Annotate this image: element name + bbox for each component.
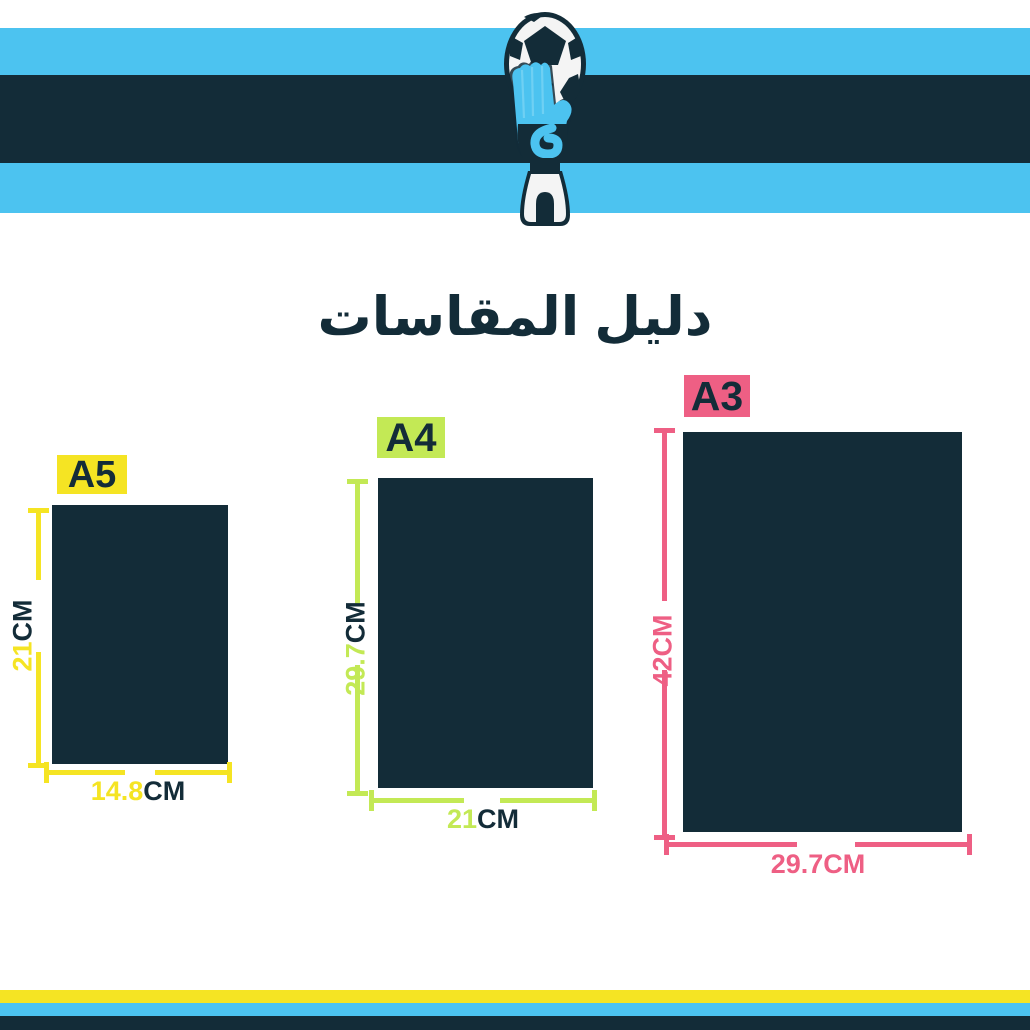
dim-label-a4-height: 29.7CM bbox=[343, 589, 370, 709]
dim-unit-a5-width: CM bbox=[143, 776, 185, 806]
dim-line-a5-width-right bbox=[155, 770, 232, 775]
page-title: دليل المقاسات bbox=[0, 288, 1030, 347]
size-badge-a4: A4 bbox=[377, 417, 445, 458]
dim-unit-a3-width: CM bbox=[823, 849, 865, 879]
paper-rect-a4 bbox=[378, 478, 593, 788]
footer-cyan-stripe bbox=[0, 1003, 1030, 1016]
dim-cap-a5-height-top bbox=[28, 508, 49, 513]
dim-line-a3-height-upper bbox=[662, 428, 667, 601]
dim-cap-a4-width-left bbox=[369, 790, 374, 811]
dim-line-a3-width-right bbox=[855, 842, 972, 847]
size-guide-poster: دليل المقاسات A5 21CM 14.8CM A4 29.7CM bbox=[0, 0, 1030, 1030]
size-badge-a5: A5 bbox=[57, 455, 127, 494]
dim-label-a3-width: 29.7CM bbox=[718, 851, 918, 878]
paper-rect-a5 bbox=[52, 505, 228, 764]
dim-label-a3-height: 42CM bbox=[650, 601, 677, 701]
dim-cap-a3-height-top bbox=[654, 428, 675, 433]
dim-line-a4-width-right bbox=[500, 798, 597, 803]
dim-label-a5-width: 14.8CM bbox=[38, 778, 238, 805]
dim-line-a5-height-upper bbox=[36, 508, 41, 580]
footer-navy-stripe bbox=[0, 1016, 1030, 1030]
dim-value-a3-height: 42 bbox=[648, 656, 678, 686]
dim-value-a4-width: 21 bbox=[447, 804, 477, 834]
dim-value-a4-height: 29.7 bbox=[341, 643, 371, 696]
dim-label-a4-width: 21CM bbox=[383, 806, 583, 833]
size-badge-a3: A3 bbox=[684, 375, 750, 417]
dim-cap-a3-width-right bbox=[967, 834, 972, 855]
dim-line-a5-width-left bbox=[44, 770, 125, 775]
goalkeeper-glove-trophy-logo-icon bbox=[490, 8, 600, 230]
dim-value-a5-width: 14.8 bbox=[91, 776, 144, 806]
dim-value-a5-height: 21 bbox=[8, 641, 38, 671]
dim-cap-a4-height-bottom bbox=[347, 791, 368, 796]
paper-rect-a3 bbox=[683, 432, 962, 832]
dim-cap-a4-height-top bbox=[347, 479, 368, 484]
dim-unit-a5-height: CM bbox=[8, 599, 38, 641]
dim-unit-a3-height: CM bbox=[648, 614, 678, 656]
dim-label-a5-height: 21CM bbox=[10, 596, 37, 676]
footer-yellow-stripe bbox=[0, 990, 1030, 1003]
dim-line-a3-width-left bbox=[664, 842, 797, 847]
dim-cap-a3-width-left bbox=[664, 834, 669, 855]
dim-line-a4-height-upper bbox=[355, 479, 360, 606]
dim-unit-a4-width: CM bbox=[477, 804, 519, 834]
dim-line-a4-width-left bbox=[369, 798, 464, 803]
dim-unit-a4-height: CM bbox=[341, 601, 371, 643]
dim-cap-a4-width-right bbox=[592, 790, 597, 811]
dim-value-a3-width: 29.7 bbox=[771, 849, 824, 879]
